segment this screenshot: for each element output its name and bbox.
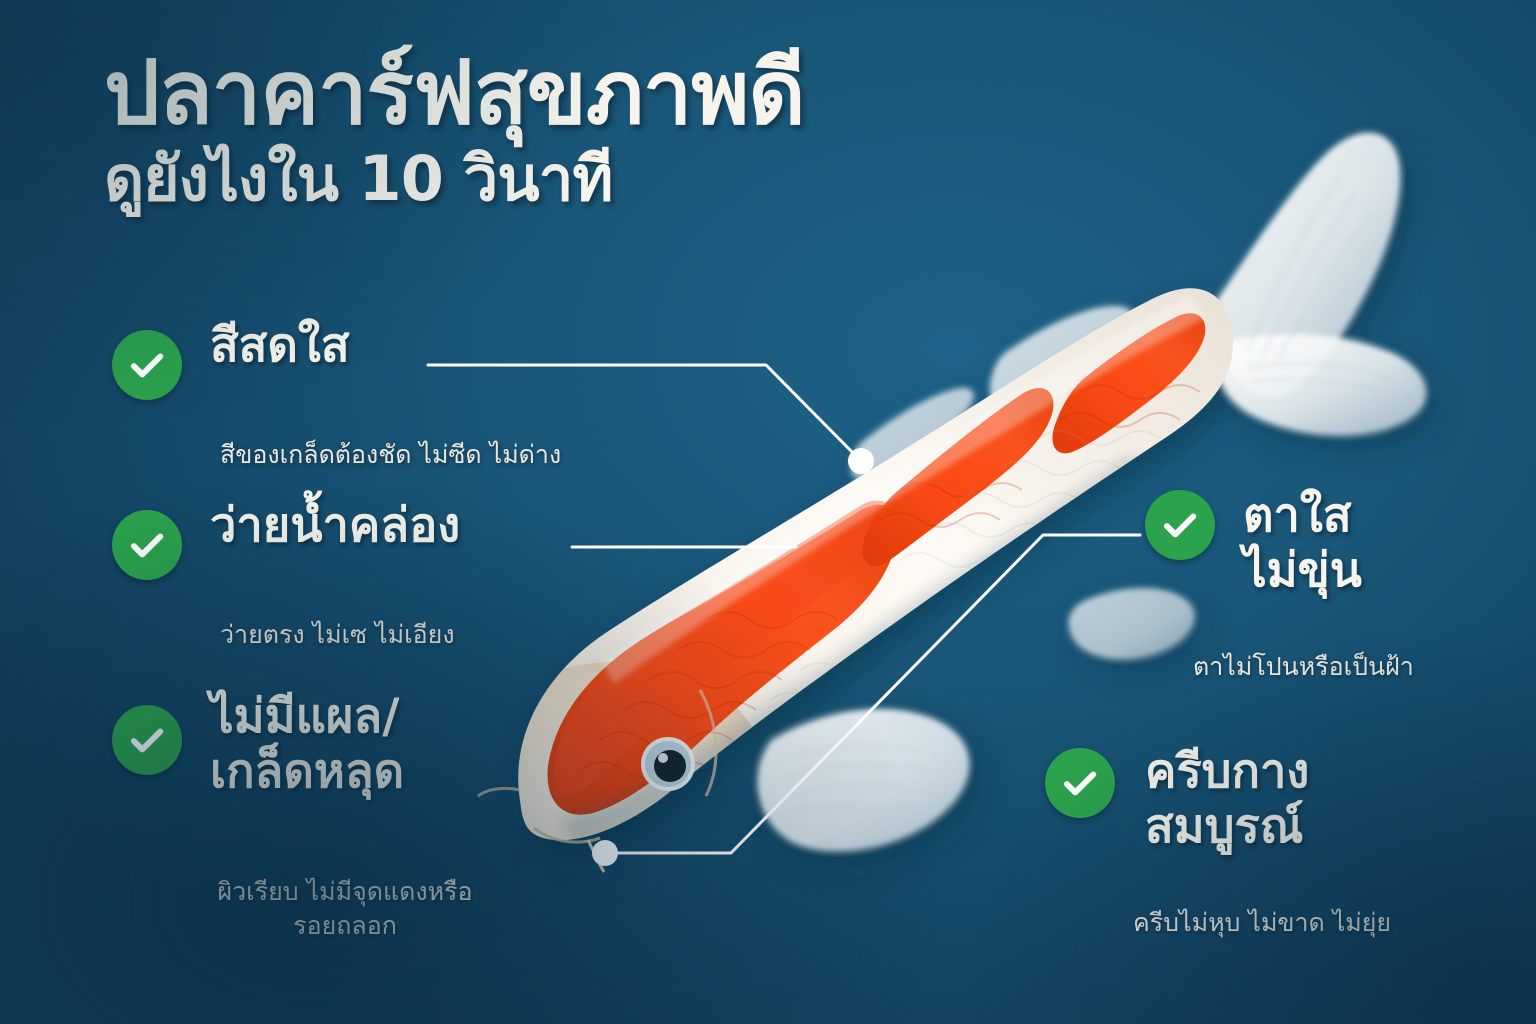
- pelvic-fin: [1069, 588, 1195, 659]
- bullet-subtitle: ผิวเรียบ ไม่มีจุดแดงหรือ รอยถลอก: [200, 875, 490, 943]
- bullet-subtitle: ครีบไม่หุบ ไม่ขาด ไม่ยุ่ย: [1133, 906, 1391, 940]
- bullet-title: ตาใส ไม่ขุ่น: [1243, 488, 1503, 599]
- pectoral-fin: [758, 709, 970, 851]
- caudal-fin: [1205, 133, 1426, 436]
- title-line-1: ปลาคาร์ฟสุขภาพดี: [104, 48, 805, 138]
- bullet-title-line-2: ไม่ขุ่น: [1243, 543, 1362, 598]
- bullet-title-line-2: เกล็ดหลุด: [210, 744, 404, 799]
- koi-eye: [641, 737, 695, 791]
- bullet-subtitle: ว่ายตรง ไม่เซ ไม่เอียง: [220, 618, 455, 652]
- bullet-title-line-1: ครีบกาง: [1145, 744, 1309, 799]
- check-icon: [1045, 748, 1115, 818]
- bullet-subtitle-line-1: ผิวเรียบ ไม่มีจุดแดงหรือ: [217, 877, 472, 906]
- bullet-title: ไม่มีแผล/ เกล็ดหลุด: [210, 689, 510, 800]
- title-line-2: ดูยังไงใน 10 วินาที: [104, 144, 805, 213]
- bullet-title-line-1: ตาใส: [1243, 488, 1352, 543]
- bullet-subtitle: ตาไม่โปนหรือเป็นฝ้า: [1193, 650, 1414, 684]
- check-icon: [112, 510, 182, 580]
- bullet-title-line-2: สมบูรณ์: [1145, 799, 1303, 854]
- infographic-canvas: ปลาคาร์ฟสุขภาพดี ดูยังไงใน 10 วินาที สีส…: [0, 0, 1536, 1024]
- bullet-subtitle-line-2: รอยถลอก: [293, 911, 397, 940]
- bullet-title: ว่ายน้ำคล่อง: [210, 498, 460, 553]
- check-icon: [112, 705, 182, 775]
- check-icon: [1145, 490, 1215, 560]
- bullet-title: สีสดใส: [210, 318, 350, 373]
- check-icon: [112, 330, 182, 400]
- bullet-title-line-1: ไม่มีแผล/: [210, 689, 399, 744]
- bullet-title: ครีบกาง สมบูรณ์: [1145, 744, 1405, 855]
- bullet-subtitle: สีของเกล็ดต้องชัด ไม่ซีด ไม่ด่าง: [220, 438, 561, 472]
- page-title: ปลาคาร์ฟสุขภาพดี ดูยังไงใน 10 วินาที: [104, 48, 805, 213]
